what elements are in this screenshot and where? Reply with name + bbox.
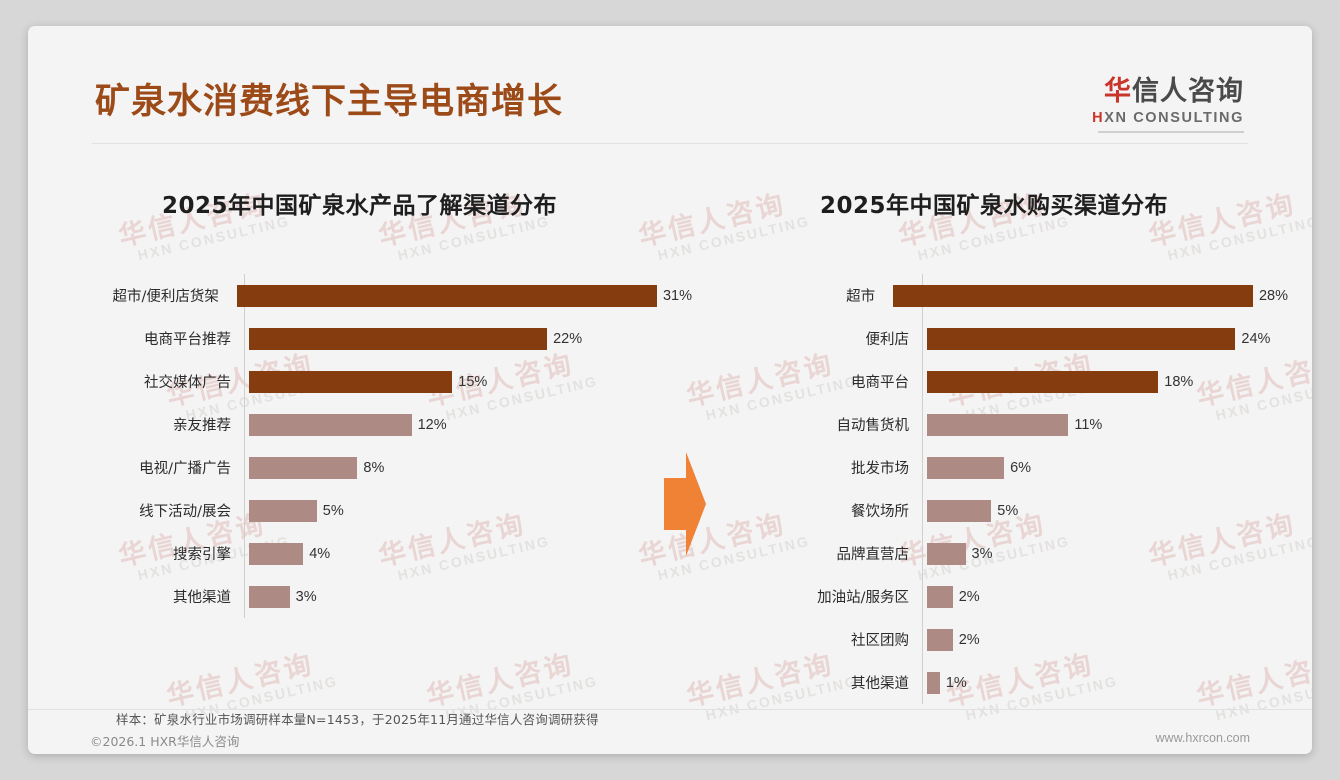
bar-cell: 12%: [244, 414, 692, 436]
bar-value-label: 28%: [1259, 288, 1288, 304]
bar-row: 电视/广播广告8%: [92, 446, 692, 489]
bar-row: 超市/便利店货架31%: [92, 274, 692, 317]
chart-panel-purchase: 2025年中国矿泉水购买渠道分布 超市28%便利店24%电商平台18%自动售货机…: [748, 186, 1288, 704]
bar-cell: 31%: [232, 285, 692, 307]
bar-value-label: 12%: [418, 417, 447, 433]
bar-row: 超市28%: [748, 274, 1288, 317]
bar-category-label: 超市/便利店货架: [92, 285, 232, 306]
bar-value-label: 22%: [553, 331, 582, 347]
chart-title-awareness: 2025年中国矿泉水产品了解渠道分布: [162, 186, 692, 220]
bar-category-label: 便利店: [748, 328, 922, 349]
bar-row: 线下活动/展会5%: [92, 489, 692, 532]
bar: [927, 500, 991, 522]
page-title: 矿泉水消费线下主导电商增长: [95, 73, 563, 124]
footer-copyright: ©2026.1 HXR华信人咨询: [90, 731, 239, 750]
bar: [927, 414, 1068, 436]
bar-cell: 15%: [244, 371, 692, 393]
bar: [927, 629, 953, 651]
bar-row: 搜索引擎4%: [92, 532, 692, 575]
bar-chart-purchase: 超市28%便利店24%电商平台18%自动售货机11%批发市场6%餐饮场所5%品牌…: [748, 274, 1288, 704]
bar: [249, 414, 412, 436]
bar-value-label: 18%: [1164, 374, 1193, 390]
bar-cell: 3%: [922, 543, 1288, 565]
bar-category-label: 其他渠道: [748, 672, 922, 693]
bar-cell: 8%: [244, 457, 692, 479]
bar-cell: 5%: [922, 500, 1288, 522]
bar-category-label: 餐饮场所: [748, 500, 922, 521]
bar-category-label: 社区团购: [748, 629, 922, 650]
footer-website: www.hxrcon.com: [1156, 731, 1250, 745]
bar-row: 社区团购2%: [748, 618, 1288, 661]
bar-cell: 5%: [244, 500, 692, 522]
chart-title-purchase: 2025年中国矿泉水购买渠道分布: [820, 186, 1288, 220]
bar-cell: 2%: [922, 586, 1288, 608]
bar-value-label: 5%: [323, 503, 344, 519]
bar: [249, 457, 357, 479]
bar-cell: 28%: [888, 285, 1288, 307]
logo-english-accent-char: H: [1092, 110, 1104, 126]
bar-row: 其他渠道3%: [92, 575, 692, 618]
logo-underline: [1098, 131, 1244, 133]
bar: [927, 371, 1158, 393]
bar-row: 亲友推荐12%: [92, 403, 692, 446]
bar: [927, 328, 1235, 350]
bar: [249, 328, 547, 350]
bar-row: 社交媒体广告15%: [92, 360, 692, 403]
bar-category-label: 电商平台推荐: [92, 328, 244, 349]
bar-category-label: 社交媒体广告: [92, 371, 244, 392]
bar-cell: 1%: [922, 672, 1288, 694]
bar-row: 自动售货机11%: [748, 403, 1288, 446]
bar-value-label: 5%: [997, 503, 1018, 519]
bar-category-label: 亲友推荐: [92, 414, 244, 435]
bar-value-label: 2%: [959, 632, 980, 648]
logo-chinese-accent-char: 华: [1104, 76, 1132, 107]
bar-cell: 22%: [244, 328, 692, 350]
bar-value-label: 11%: [1074, 417, 1102, 433]
bar-value-label: 6%: [1010, 460, 1031, 476]
bar-category-label: 自动售货机: [748, 414, 922, 435]
bar: [237, 285, 657, 307]
bar-value-label: 31%: [663, 288, 692, 304]
right-arrow-icon: [664, 452, 706, 556]
bar-row: 品牌直营店3%: [748, 532, 1288, 575]
bar-category-label: 线下活动/展会: [92, 500, 244, 521]
header-divider: [92, 143, 1248, 144]
bar-cell: 18%: [922, 371, 1288, 393]
bar-category-label: 批发市场: [748, 457, 922, 478]
bar: [927, 457, 1004, 479]
slide-card: 华信人咨询HXN CONSULTING华信人咨询HXN CONSULTING华信…: [28, 26, 1312, 754]
logo-chinese-text: 华信人咨询: [1092, 78, 1244, 105]
bar-value-label: 3%: [296, 589, 317, 605]
bar-category-label: 加油站/服务区: [748, 586, 922, 607]
bar-value-label: 15%: [458, 374, 487, 390]
bar-cell: 24%: [922, 328, 1288, 350]
bar-cell: 2%: [922, 629, 1288, 651]
watermark-chinese: 华信人咨询: [162, 638, 336, 714]
slide-background: 华信人咨询HXN CONSULTING华信人咨询HXN CONSULTING华信…: [0, 0, 1340, 780]
bar-cell: 3%: [244, 586, 692, 608]
company-logo: 华信人咨询 HXN CONSULTING: [1092, 78, 1244, 133]
bar-value-label: 1%: [946, 675, 967, 691]
bar-value-label: 8%: [363, 460, 384, 476]
bar-cell: 11%: [922, 414, 1288, 436]
bar-row: 其他渠道1%: [748, 661, 1288, 704]
bar: [927, 586, 953, 608]
bar-row: 便利店24%: [748, 317, 1288, 360]
logo-english-text: HXN CONSULTING: [1092, 111, 1244, 126]
logo-chinese-rest: 信人咨询: [1132, 76, 1244, 107]
bar-category-label: 电视/广播广告: [92, 457, 244, 478]
logo-english-rest: XN CONSULTING: [1104, 110, 1244, 126]
bar: [249, 500, 317, 522]
bar-category-label: 品牌直营店: [748, 543, 922, 564]
bar-row: 餐饮场所5%: [748, 489, 1288, 532]
bar: [249, 371, 452, 393]
watermark-chinese: 华信人咨询: [422, 638, 596, 714]
bar-category-label: 其他渠道: [92, 586, 244, 607]
bar-row: 电商平台18%: [748, 360, 1288, 403]
bar-row: 批发市场6%: [748, 446, 1288, 489]
bar-row: 加油站/服务区2%: [748, 575, 1288, 618]
bar-value-label: 2%: [959, 589, 980, 605]
bar: [927, 672, 940, 694]
slide-footer: ©2026.1 HXR华信人咨询 www.hxrcon.com: [28, 719, 1312, 754]
bar-cell: 6%: [922, 457, 1288, 479]
bar-category-label: 超市: [748, 285, 888, 306]
bar-value-label: 24%: [1241, 331, 1270, 347]
bar-row: 电商平台推荐22%: [92, 317, 692, 360]
bar: [249, 586, 290, 608]
bar: [927, 543, 966, 565]
bar: [249, 543, 303, 565]
chart-panel-awareness: 2025年中国矿泉水产品了解渠道分布 超市/便利店货架31%电商平台推荐22%社…: [92, 186, 692, 618]
bar-value-label: 3%: [972, 546, 993, 562]
bar: [893, 285, 1253, 307]
bar-cell: 4%: [244, 543, 692, 565]
bar-chart-awareness: 超市/便利店货架31%电商平台推荐22%社交媒体广告15%亲友推荐12%电视/广…: [92, 274, 692, 618]
bar-value-label: 4%: [309, 546, 330, 562]
bar-category-label: 搜索引擎: [92, 543, 244, 564]
bar-category-label: 电商平台: [748, 371, 922, 392]
